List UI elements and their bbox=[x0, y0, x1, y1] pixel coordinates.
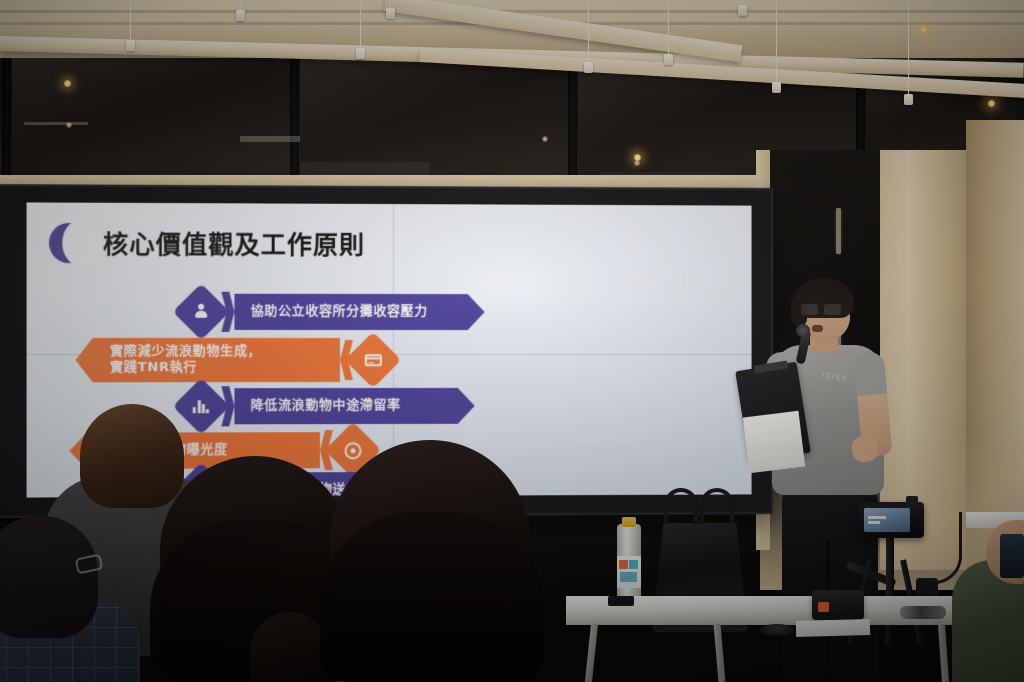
slide-row-1-bar: 協助公立收容所分攤收容壓力 bbox=[234, 294, 484, 330]
slide-row-3[interactable]: 降低流浪動物中途滯留率 bbox=[181, 386, 475, 427]
handbag-handle-right bbox=[700, 488, 734, 524]
slide-row-3-text: 降低流浪動物中途滯留率 bbox=[234, 398, 400, 415]
crescent-moon-icon bbox=[49, 223, 90, 264]
slide-row-1-text: 協助公立收容所分攤收容壓力 bbox=[234, 304, 427, 321]
phone-screen[interactable] bbox=[864, 508, 910, 532]
slide-row-3-bar: 降低流浪動物中途滯留率 bbox=[234, 388, 474, 424]
card-icon bbox=[345, 332, 402, 389]
bar-chart-icon bbox=[173, 378, 230, 435]
presenter-mouth bbox=[812, 325, 823, 332]
water-bottle-cap bbox=[622, 517, 636, 527]
presentation-photo-scene: 核心價值觀及工作原則 協助公立收容所分攤收容壓力 實際減少流浪動物 bbox=[0, 0, 1024, 682]
clipboard-paper bbox=[743, 411, 805, 473]
slide-row-2[interactable]: 實際減少流浪動物生成， 實踐TNR執行 bbox=[75, 338, 393, 382]
keys bbox=[900, 606, 946, 619]
lens-cap bbox=[760, 624, 794, 636]
chevron-right-icon bbox=[221, 292, 234, 332]
chevron-right-icon bbox=[221, 386, 234, 426]
slide-title-row: 核心價值觀及工作原則 bbox=[49, 223, 365, 264]
slide-title: 核心價值觀及工作原則 bbox=[103, 225, 365, 262]
audience-member-head bbox=[80, 404, 184, 508]
water-bottle-label bbox=[617, 556, 641, 588]
rig-knob[interactable] bbox=[906, 496, 918, 508]
chevron-left-icon bbox=[340, 340, 353, 380]
camera-bag-tab bbox=[818, 602, 829, 612]
person-icon bbox=[173, 283, 230, 340]
slide-row-1[interactable]: 協助公立收容所分攤收容壓力 bbox=[181, 292, 485, 332]
audience-member-hair bbox=[320, 512, 544, 682]
chevron-left-icon bbox=[320, 430, 333, 470]
audience-member-head bbox=[250, 612, 330, 682]
small-device bbox=[608, 596, 634, 606]
phone-device[interactable] bbox=[1000, 534, 1024, 578]
glasses-icon bbox=[800, 303, 848, 316]
handbag-handle-left bbox=[664, 488, 698, 524]
slide-row-2-text: 實際減少流浪動物生成， 實踐TNR執行 bbox=[75, 344, 261, 377]
microphone-head bbox=[796, 324, 810, 337]
tripod-column bbox=[886, 530, 894, 596]
paper-sheet bbox=[796, 619, 870, 637]
slide-row-2-bar: 實際減少流浪動物生成， 實踐TNR執行 bbox=[75, 338, 340, 382]
audience-member-head bbox=[0, 516, 98, 638]
camera-cable bbox=[920, 512, 962, 584]
